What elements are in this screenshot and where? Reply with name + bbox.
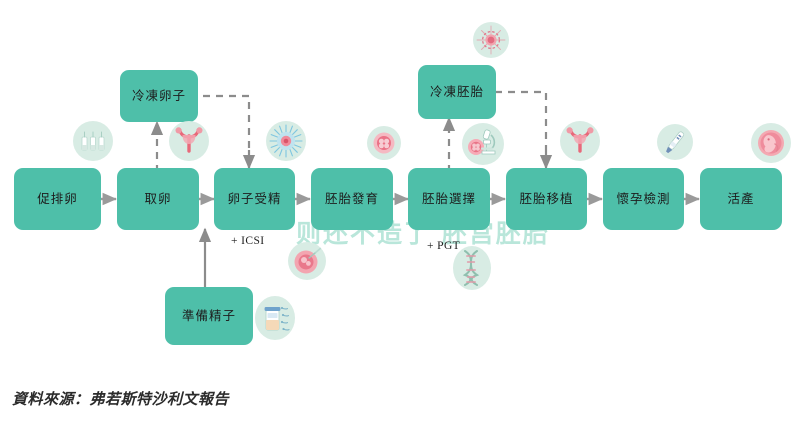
uterus-transfer-icon [560,121,600,161]
newborn-icon [751,123,791,163]
fertilized-egg-icon [266,121,306,161]
step-box-embryo-development[interactable]: 胚胎發育 [311,168,393,230]
sublabel-icsi: + ICSI [231,235,265,247]
step-box-pregnancy-test[interactable]: 懷孕檢測 [603,168,684,230]
branch-box-frozen-embryo[interactable]: 冷凍胚胎 [418,65,496,119]
branch-box-sperm-preparation[interactable]: 準備精子 [165,287,253,345]
step-box-embryo-selection[interactable]: 胚胎選擇 [408,168,490,230]
step-box-egg-fertilization[interactable]: 卵子受精 [214,168,295,230]
microscope-embryo-icon [462,123,504,165]
step-box-live-birth[interactable]: 活產 [700,168,782,230]
step-box-egg-retrieval[interactable]: 取卵 [117,168,199,230]
ampoules-icon [73,121,113,161]
step-label: 促排卵 [37,192,78,207]
diagram-canvas: 则还不造了 胚宫胚胎 促排卵 取卵 卵子受精 胚胎發育 胚胎選擇 胚胎移植 懷孕… [0,0,807,426]
dna-helix-icon [453,246,491,290]
pregnancy-test-icon [657,124,693,160]
frozen-embryo-icon [473,22,509,58]
icsi-injection-icon [288,242,326,280]
sublabel-pgt: + PGT [427,240,460,252]
branch-label: 準備精子 [182,309,236,324]
step-label: 胚胎發育 [325,192,379,207]
step-label: 活產 [727,192,754,207]
step-label: 取卵 [144,192,171,207]
step-label: 胚胎移植 [519,192,573,207]
uterus-icon [169,121,209,161]
step-box-ovarian-stimulation[interactable]: 促排卵 [14,168,101,230]
branch-box-frozen-eggs[interactable]: 冷凍卵子 [120,70,198,122]
step-label: 卵子受精 [227,192,281,207]
branch-label: 冷凍卵子 [132,89,186,104]
step-label: 胚胎選擇 [422,192,476,207]
sperm-sample-icon [255,296,295,340]
branch-label: 冷凍胚胎 [430,85,484,100]
step-label: 懷孕檢測 [616,192,670,207]
step-box-embryo-transfer[interactable]: 胚胎移植 [506,168,587,230]
embryo-cell-icon [367,126,401,160]
